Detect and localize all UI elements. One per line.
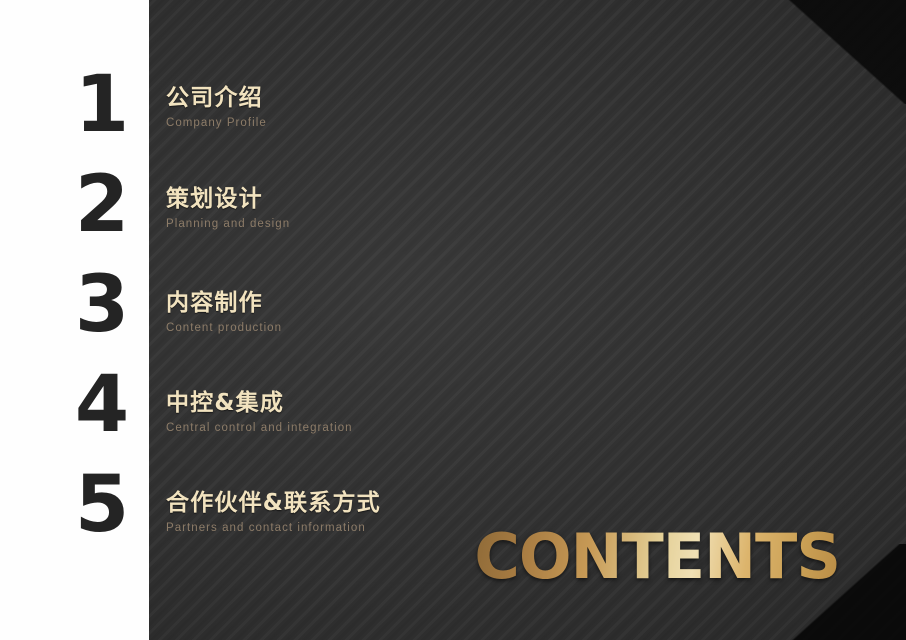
list-item[interactable]: 中控&集成 Central control and integration [166, 390, 353, 434]
list-item[interactable]: 内容制作 Content production [166, 290, 282, 334]
entry-title-en: Company Profile [166, 117, 267, 129]
entry-title-cn: 策划设计 [166, 186, 290, 213]
list-item[interactable]: 策划设计 Planning and design [166, 186, 290, 230]
entry-title-cn: 合作伙伴&联系方式 [166, 490, 381, 517]
entry-title-en: Planning and design [166, 218, 290, 230]
entry-title-cn: 公司介绍 [166, 85, 267, 112]
entry-title-cn: 中控&集成 [166, 390, 353, 417]
contents-wordmark: CONTENTS [474, 526, 840, 588]
list-item[interactable]: 合作伙伴&联系方式 Partners and contact informati… [166, 490, 381, 534]
entry-title-en: Content production [166, 322, 282, 334]
list-item[interactable]: 公司介绍 Company Profile [166, 85, 267, 129]
contents-slide: 1 2 3 4 5 公司介绍 Company Profile 策划设计 Plan… [0, 0, 906, 640]
entry-title-en: Central control and integration [166, 422, 353, 434]
entry-title-cn: 内容制作 [166, 290, 282, 317]
entry-title-en: Partners and contact information [166, 522, 381, 534]
